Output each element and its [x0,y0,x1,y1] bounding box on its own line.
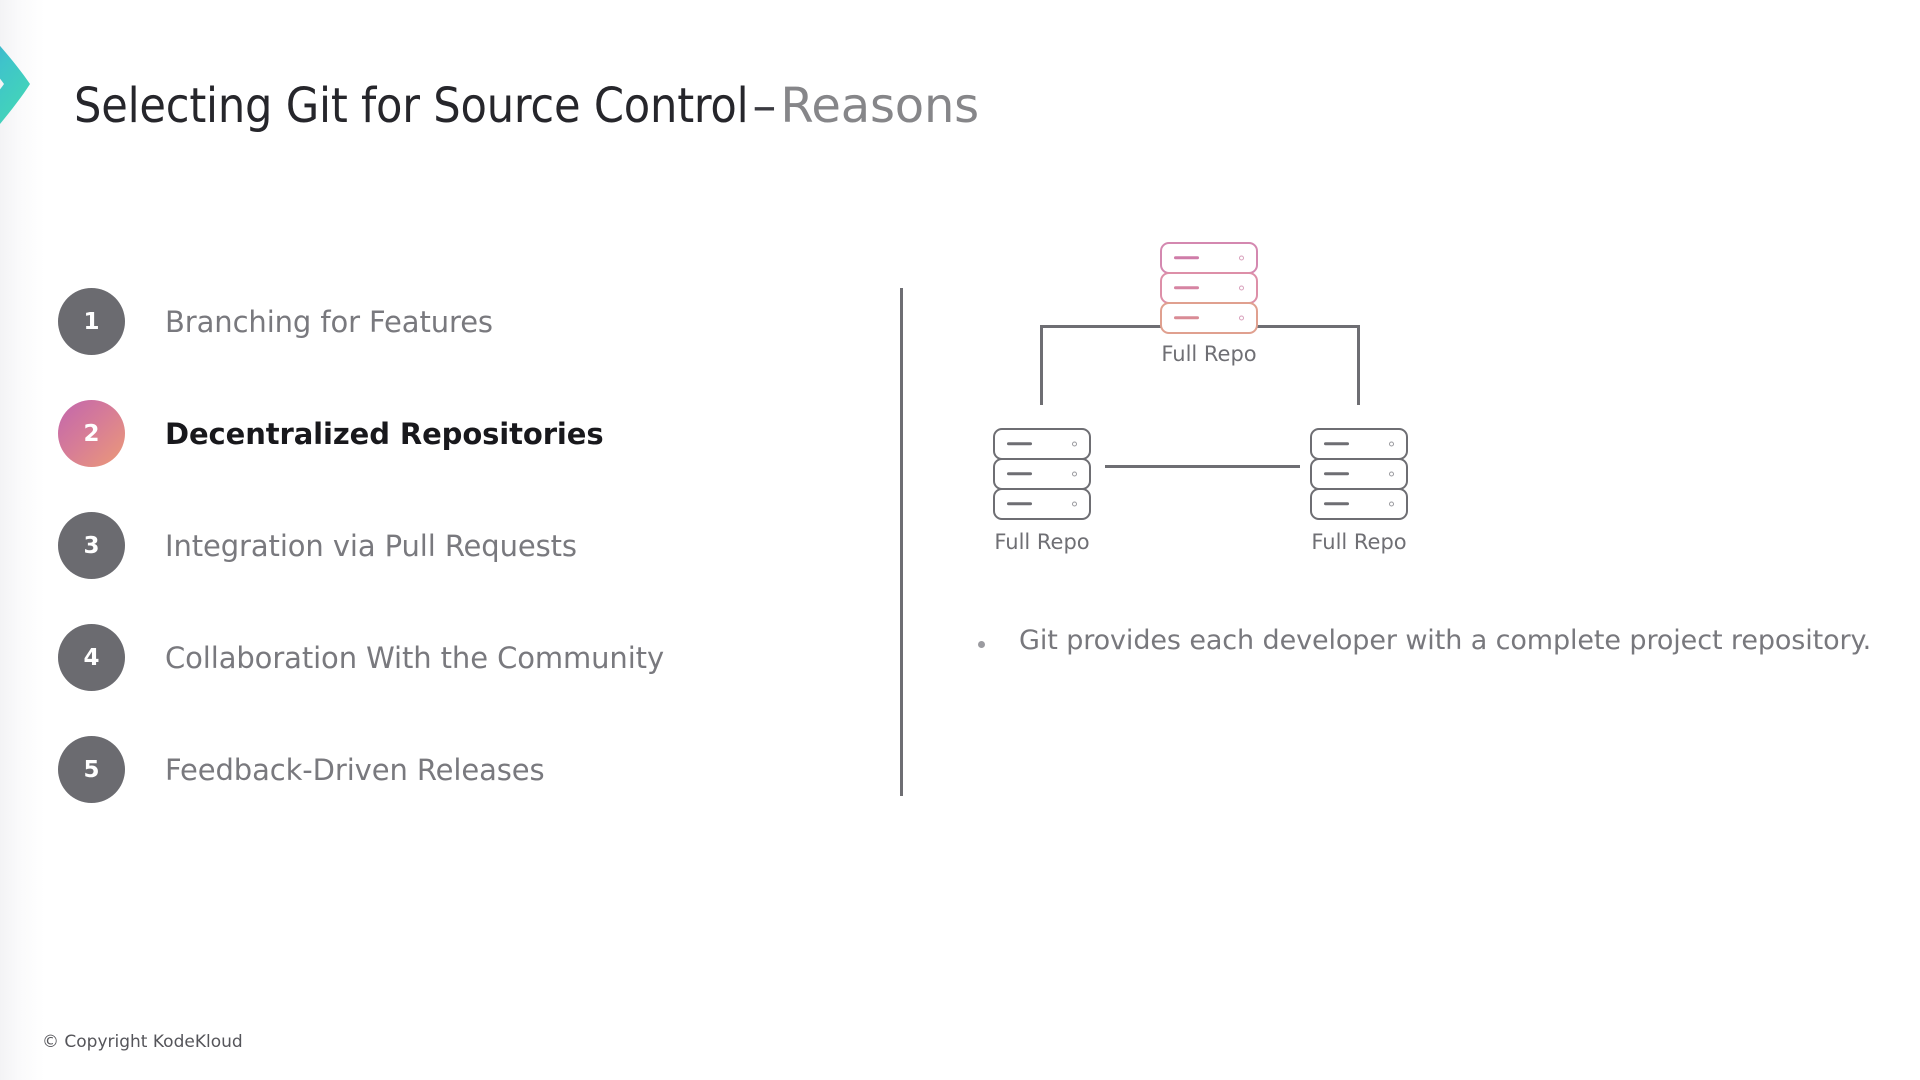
list-item-reason-2[interactable]: 2 Decentralized Repositories [58,400,838,467]
server-unit-bar [1174,256,1198,259]
reason-label: Decentralized Repositories [165,417,604,451]
server-unit [1160,242,1258,274]
server-unit-led-icon [1072,502,1077,507]
server-unit-led-icon [1389,442,1394,447]
reason-label: Branching for Features [165,305,493,339]
list-item-reason-4[interactable]: 4 Collaboration With the Community [58,624,838,691]
repo-node-caption-top: Full Repo [1150,342,1268,366]
reason-number-badge: 3 [58,512,125,579]
server-unit [1160,272,1258,304]
connector-right-vertical [1357,325,1360,405]
repo-node-top [1160,242,1258,334]
reason-label: Collaboration With the Community [165,641,664,675]
reasons-list: 1 Branching for Features 2 Decentralized… [58,288,838,803]
server-unit-led-icon [1239,316,1244,321]
server-unit [1310,428,1408,460]
repo-node-caption-right: Full Repo [1300,530,1418,554]
reason-number-badge: 5 [58,736,125,803]
list-item-reason-3[interactable]: 3 Integration via Pull Requests [58,512,838,579]
server-unit [1310,488,1408,520]
reason-label: Integration via Pull Requests [165,529,577,563]
server-unit-bar [1324,472,1348,475]
server-unit-bar [1174,316,1198,319]
page-title: Selecting Git for Source Control–Reasons [74,78,979,134]
server-unit-led-icon [1239,256,1244,261]
server-unit-bar [1007,502,1031,505]
server-unit [993,488,1091,520]
server-unit-led-icon [1072,472,1077,477]
reason-number-badge: 2 [58,400,125,467]
title-main-text: Selecting Git for Source Control [74,78,748,134]
reason-label: Feedback-Driven Releases [165,753,545,787]
chevron-swoosh-icon [0,8,48,163]
bullet-text: Git provides each developer with a compl… [1019,625,1871,656]
connector-peer-horizontal [1105,465,1300,468]
footer-copyright: © Copyright KodeKloud [42,1032,243,1052]
repo-topology-diagram: Full Repo Full Repo Full Repo [960,280,1480,560]
server-unit-bar [1174,286,1198,289]
title-dash: – [748,78,780,134]
list-item-reason-1[interactable]: 1 Branching for Features [58,288,838,355]
server-unit-led-icon [1072,442,1077,447]
repo-node-right [1310,428,1408,520]
server-unit-bar [1324,442,1348,445]
server-unit [993,428,1091,460]
server-unit [1160,302,1258,334]
server-unit-led-icon [1389,502,1394,507]
server-unit-bar [1007,442,1031,445]
server-unit-bar [1007,472,1031,475]
title-subtitle-text: Reasons [780,78,979,134]
server-unit-led-icon [1389,472,1394,477]
bullet-list: Git provides each developer with a compl… [978,625,1871,656]
server-unit [993,458,1091,490]
repo-node-caption-left: Full Repo [983,530,1101,554]
connector-left-vertical [1040,325,1043,405]
repo-node-left [993,428,1091,520]
list-item-reason-5[interactable]: 5 Feedback-Driven Releases [58,736,838,803]
server-unit [1310,458,1408,490]
bullet-dot-icon [978,641,985,648]
reason-number-badge: 1 [58,288,125,355]
reason-number-badge: 4 [58,624,125,691]
server-unit-led-icon [1239,286,1244,291]
server-unit-bar [1324,502,1348,505]
vertical-divider [900,288,903,796]
